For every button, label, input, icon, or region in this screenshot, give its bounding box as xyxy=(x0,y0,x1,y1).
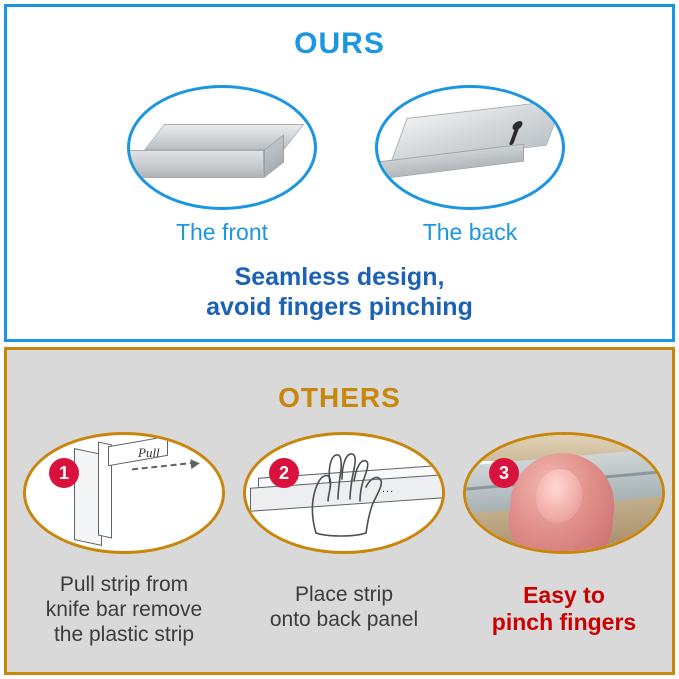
caption-back: The back xyxy=(375,219,565,246)
step-2-photo: ... xyxy=(243,432,445,554)
step-2-badge: 2 xyxy=(269,458,299,488)
ours-tagline-line1: Seamless design, xyxy=(7,262,672,292)
step-3-photo xyxy=(463,432,665,554)
knife-bar-back-photo xyxy=(375,85,565,210)
step-3-caption: Easy to pinch fingers xyxy=(457,582,671,636)
ours-tagline: Seamless design, avoid fingers pinching xyxy=(7,262,672,322)
step-1-caption: Pull strip from knife bar remove the pla… xyxy=(17,572,231,647)
step-1-caption-line1: Pull strip from xyxy=(17,572,231,597)
bar-front-face xyxy=(127,150,264,178)
step1-arrow-icon xyxy=(132,462,196,473)
step2-dots-annotation: ... xyxy=(382,483,394,495)
knife-bar-front-photo xyxy=(127,85,317,210)
step-2-caption-line1: Place strip xyxy=(237,582,451,607)
comparison-infographic: OURS The front The back Seamless design,… xyxy=(0,0,679,679)
step1-pull-annotation: Pull xyxy=(138,445,160,461)
others-panel: OTHERS Pull 1 ... xyxy=(4,347,675,675)
hand-icon xyxy=(298,443,394,539)
step-2-caption: Place strip onto back panel xyxy=(237,582,451,632)
others-title: OTHERS xyxy=(7,382,672,414)
step-3-caption-line1: Easy to xyxy=(457,582,671,609)
caption-front: The front xyxy=(127,219,317,246)
step-3-badge: 3 xyxy=(489,458,519,488)
ours-title: OURS xyxy=(7,27,672,61)
step-3-caption-line2: pinch fingers xyxy=(457,609,671,636)
step-1-caption-line2: knife bar remove xyxy=(17,597,231,622)
ours-panel: OURS The front The back Seamless design,… xyxy=(4,4,675,342)
step-1-photo: Pull xyxy=(23,432,225,554)
keyhole-slot-icon xyxy=(511,121,524,131)
ours-tagline-line2: avoid fingers pinching xyxy=(7,292,672,322)
step-1-badge: 1 xyxy=(49,458,79,488)
step-2-caption-line2: onto back panel xyxy=(237,607,451,632)
step-1-caption-line3: the plastic strip xyxy=(17,622,231,647)
